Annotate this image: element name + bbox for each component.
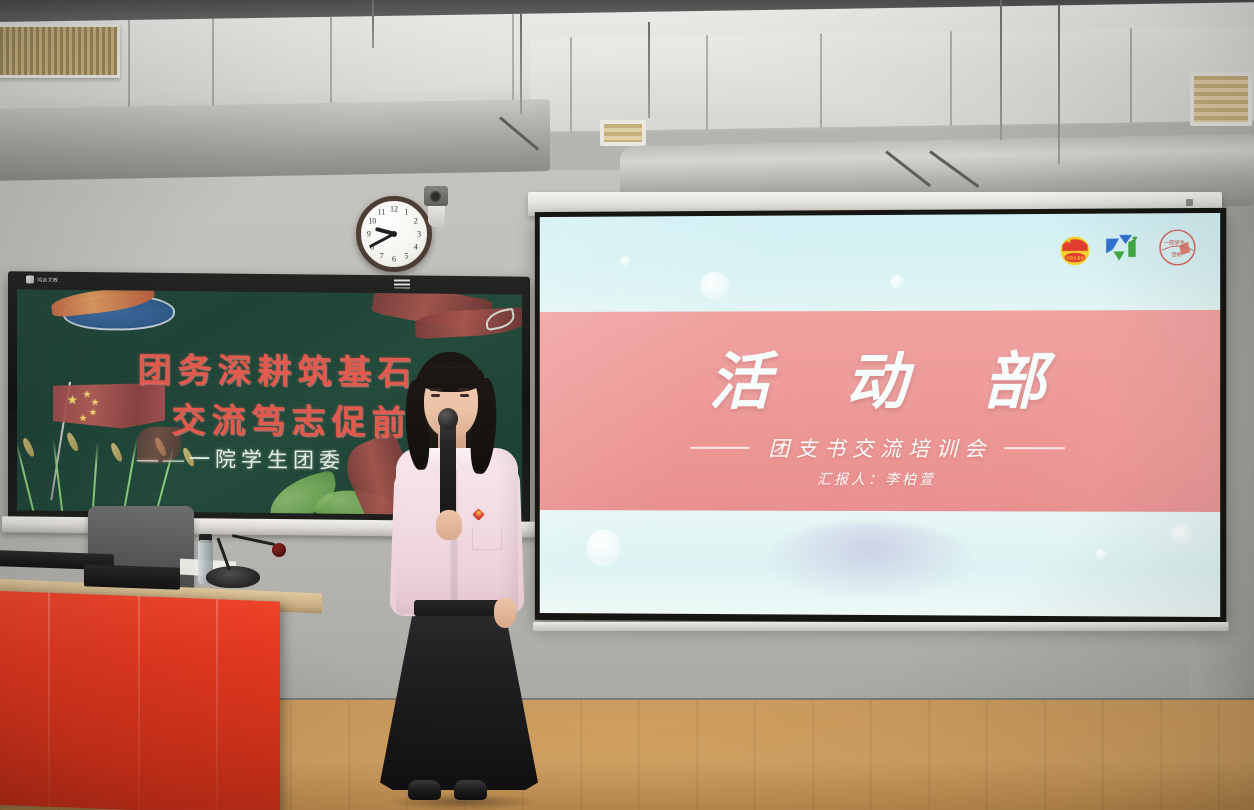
duct-metal-box [0,99,550,181]
desk-microphone-head [272,543,286,557]
bokeh-circle [1096,549,1107,560]
svg-text:中国共青团: 中国共青团 [1065,255,1084,260]
red-tablecloth [0,590,280,810]
signature-text: 一院学生团委 [189,447,345,473]
speaker-shoe-right [454,780,487,800]
air-vent-grille-2 [600,120,646,146]
air-vent-grille-1 [0,24,120,78]
speaker-brow-right [458,388,470,391]
hanger-rod [372,0,374,48]
handheld-microphone-head [438,408,458,430]
blackboard-brand-label: 鸿合文教 [26,275,58,283]
clock-face: 12 1 2 3 4 5 6 7 8 9 10 11 [356,196,432,272]
slide-presenter: 汇报人：李柏萱 [540,468,1220,489]
classroom-photo-scene: 12 1 2 3 4 5 6 7 8 9 10 11 鸿合文教 [0,0,1254,810]
cloth-fold [138,596,140,810]
bokeh-circle [620,257,630,267]
duct-seam [212,19,214,113]
speaker-waistband [414,600,500,616]
hanger-rod [1058,4,1060,164]
communist-youth-league-emblem-icon: 中国共青团 [1056,229,1094,267]
desk-microphone-base [206,566,260,588]
duct-seam [128,20,130,114]
bokeh-circle [701,271,731,299]
hanger-rod [520,14,522,114]
wheat-drawing [91,442,99,515]
cloth-fold [48,593,50,807]
blackboard-signature: ——一院学生团委 [137,443,345,475]
blackboard-clip [394,279,410,288]
subtitle-rule-left [690,447,749,449]
black-equipment-box [84,564,180,589]
speaker-hand-holding-mic [436,510,462,540]
speaker-fringe [418,362,484,392]
hanger-rod [1000,0,1002,140]
bokeh-circle [586,529,619,567]
projector-screen-bottom-bar [533,622,1228,631]
wheat-drawing [121,438,138,516]
hanger-rod [648,22,650,118]
circular-red-stamp-logo-icon: 一院学生 团委 [1155,227,1200,268]
slide-band-bottom [540,510,1220,617]
slide-title: 活 动 部 [540,330,1220,421]
clock-center-pin [391,231,397,237]
speaker-eye-left [431,394,440,397]
camera-lens-icon [430,191,441,202]
wheat-head-drawing [109,442,125,463]
wheat-head-drawing [21,437,37,458]
duct-seam [820,33,822,127]
speaker-eye-right [460,394,469,397]
slide-logo-row: 中国共青团 [1056,227,1200,268]
speaker-shoe-left [408,780,441,800]
geometric-brand-logo-icon [1104,229,1145,267]
slide-subtitle-row: 团支书交流培训会 [540,433,1220,464]
duct-seam [950,31,952,125]
bokeh-circle [1172,524,1192,544]
subtitle-rule-right [1004,447,1065,449]
duct-seam [512,14,514,108]
duct-seam [330,17,332,111]
svg-text:团委: 团委 [1172,251,1182,258]
screen-housing-label [1186,199,1198,206]
decorative-cloud-shape [768,523,972,599]
duct-seam [1130,29,1132,123]
brand-mark-icon [26,275,34,283]
security-camera-mount [428,205,445,227]
hvac-duct-panel-right [530,27,1254,134]
wall-clock: 12 1 2 3 4 5 6 7 8 9 10 11 [356,196,432,272]
signature-dash: —— [137,447,189,472]
housing-mark-icon [1186,199,1193,206]
duct-seam [570,37,572,131]
speaker-skirt [380,602,538,790]
speaker-brow-left [430,388,442,391]
speaker-shirt-pocket [472,528,502,550]
projector-screen: 中国共青团 [535,208,1226,624]
brand-text: 鸿合文教 [37,276,58,283]
slide-subtitle: 团支书交流培训会 [762,433,993,463]
presentation-slide: 中国共青团 [540,213,1220,617]
speaker-hand-lowered [494,598,516,628]
speaker-person [370,352,550,810]
bokeh-circle [890,274,904,288]
air-vent-grille-4 [1190,72,1252,126]
duct-seam [706,35,708,129]
cloth-fold [216,599,218,810]
housing-text [1196,200,1198,206]
